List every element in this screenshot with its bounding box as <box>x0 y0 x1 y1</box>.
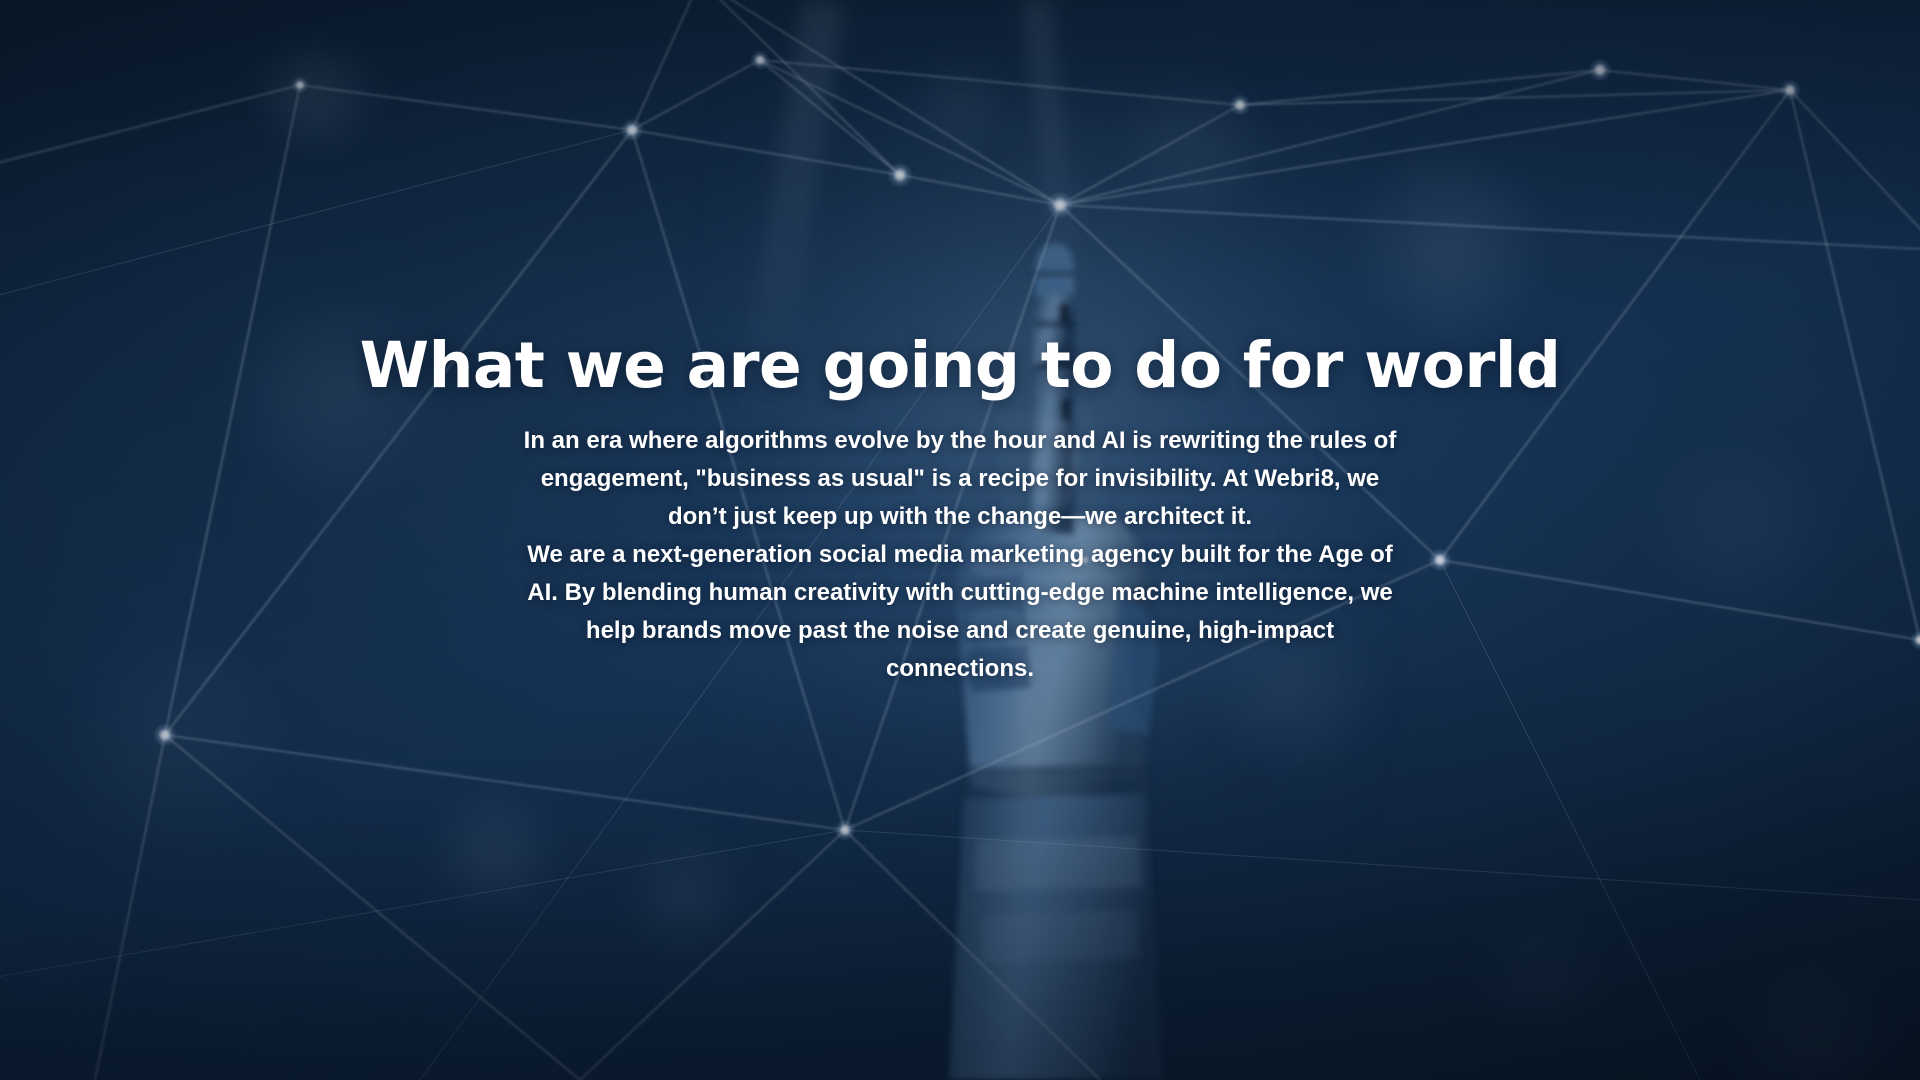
hero-description: In an era where algorithms evolve by the… <box>520 422 1400 688</box>
page-title: What we are going to do for world <box>360 332 1561 400</box>
hero-paragraph-1: In an era where algorithms evolve by the… <box>520 422 1400 536</box>
hero-paragraph-2: We are a next-generation social media ma… <box>520 536 1400 688</box>
hero-section: What we are going to do for world In an … <box>0 0 1920 1080</box>
hero-content: What we are going to do for world In an … <box>0 332 1920 688</box>
